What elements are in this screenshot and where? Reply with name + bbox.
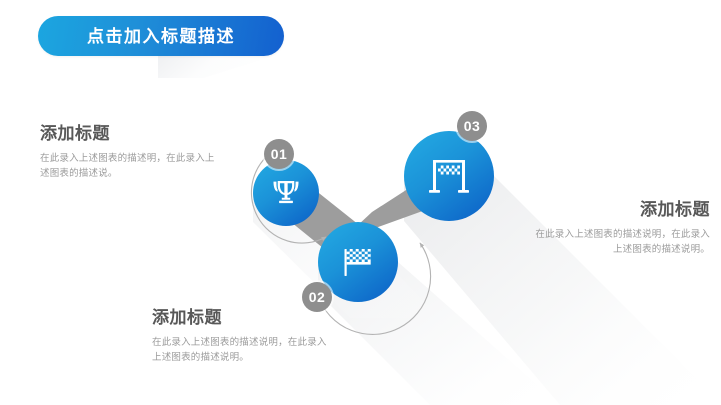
text-block-bottom-heading: 添加标题 — [152, 308, 327, 328]
text-block-left: 添加标题 在此录入上述图表的描述明，在此录入上述图表的描述说。 — [40, 124, 215, 182]
text-block-bottom-body: 在此录入上述图表的描述说明，在此录入上述图表的描述说明。 — [152, 335, 327, 366]
node-badge-02-label: 02 — [309, 289, 326, 305]
node-badge-01[interactable]: 01 — [264, 139, 294, 169]
text-block-right-heading: 添加标题 — [532, 200, 710, 220]
node-badge-01-label: 01 — [271, 146, 288, 162]
node-badge-03-label: 03 — [464, 118, 481, 134]
slide-canvas: 点击加入标题描述 — [0, 0, 721, 405]
text-block-right-body: 在此录入上述图表的描述说明，在此录入上述图表的描述说明。 — [532, 227, 710, 258]
text-block-right: 添加标题 在此录入上述图表的描述说明，在此录入上述图表的描述说明。 — [532, 200, 710, 258]
node-circle-03 — [404, 131, 494, 221]
text-block-left-heading: 添加标题 — [40, 124, 215, 144]
text-block-bottom: 添加标题 在此录入上述图表的描述说明，在此录入上述图表的描述说明。 — [152, 308, 327, 366]
node-badge-03[interactable]: 03 — [457, 111, 487, 141]
text-block-left-body: 在此录入上述图表的描述明，在此录入上述图表的描述说。 — [40, 151, 215, 182]
